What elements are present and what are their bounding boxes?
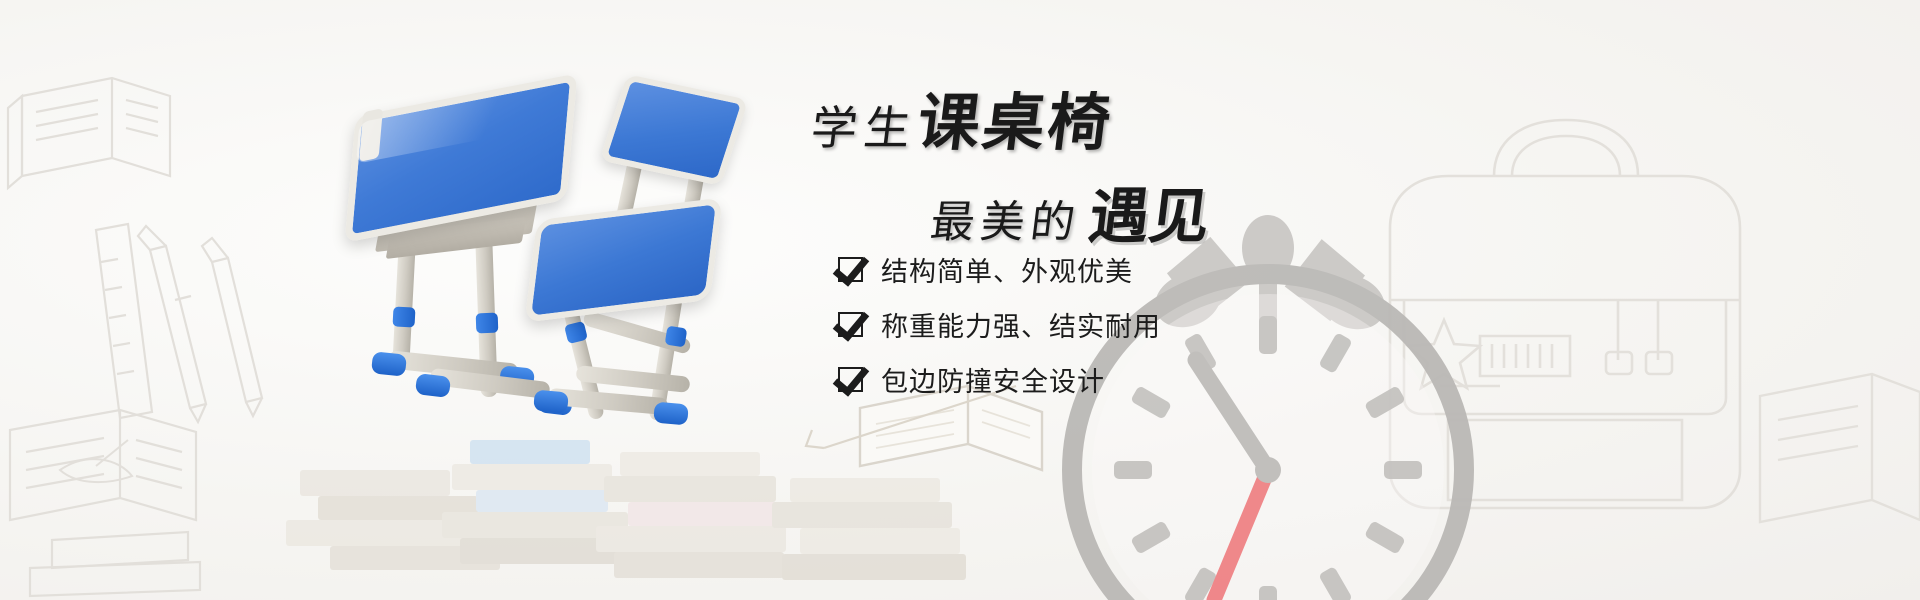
desk-leg-cuff — [392, 306, 415, 327]
ruler-outline-illustration — [96, 224, 152, 418]
checkbox-checked-icon — [838, 312, 863, 337]
chair-foot-cap — [533, 390, 569, 414]
headline-line-1: 学生课桌椅 — [808, 92, 1376, 154]
feature-item: 结构简单、外观优美 — [838, 248, 1161, 291]
feature-item: 称重能力强、结实耐用 — [838, 303, 1161, 346]
desk-leg-cuff — [476, 313, 499, 334]
open-books-illustration — [10, 410, 200, 596]
feature-label: 结构简单、外观优美 — [881, 250, 1133, 289]
desk-foot-cap — [371, 351, 407, 376]
desk-foot-cap — [415, 373, 451, 398]
headline-bold-emphasis: 遇见 — [1085, 183, 1213, 250]
chair-foot-cap — [653, 402, 689, 426]
checkbox-checked-icon — [838, 257, 863, 282]
feature-item: 包边防撞安全设计 — [838, 358, 1161, 401]
checkbox-checked-icon — [838, 367, 863, 392]
feature-label: 称重能力强、结实耐用 — [881, 305, 1161, 344]
right-books-outline-illustration — [1760, 374, 1920, 522]
feature-list: 结构简单、外观优美 称重能力强、结实耐用 包边防撞安全设计 — [838, 248, 1161, 413]
pencil-outline-illustration — [138, 226, 262, 422]
headline-line-2: 最美的遇见 — [927, 168, 1378, 255]
leaf-doodle-illustration — [60, 440, 132, 482]
chair-backrest — [599, 74, 748, 186]
student-desk-and-chair-photo — [330, 75, 750, 505]
clock-hands — [1196, 360, 1281, 600]
notebook-outline-illustration — [8, 78, 170, 188]
headline-prefix: 学生 — [808, 101, 921, 155]
headline-emphasis: 课桌椅 — [914, 86, 1118, 159]
feature-label: 包边防撞安全设计 — [881, 360, 1105, 399]
promo-banner: 学生课桌椅 最美的遇见 结构简单、外观优美 称重能力强、结实耐用 包边防撞安全设… — [0, 0, 1920, 600]
chair-seat — [524, 197, 722, 322]
chair-leg-cuff — [665, 326, 688, 348]
headline-block: 学生课桌椅 最美的遇见 — [812, 92, 1372, 255]
headline-subtext: 最美的 — [928, 197, 1084, 248]
